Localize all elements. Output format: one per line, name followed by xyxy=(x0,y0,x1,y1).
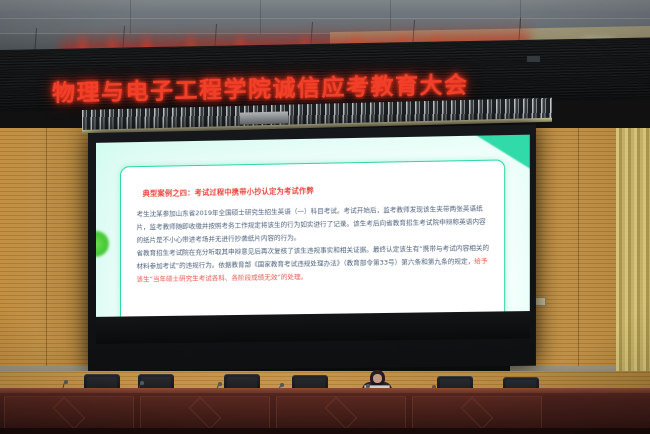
window-curtain xyxy=(616,128,650,386)
podium-panel-diamond xyxy=(189,397,222,430)
podium-panel xyxy=(4,396,134,430)
ceiling-panel-line xyxy=(130,0,131,34)
slide-title: 典型案例之四：考试过程中携带小抄认定为考试作弊 xyxy=(143,183,491,199)
podium-panel-diamond xyxy=(325,397,358,430)
conference-hall-photo: 物理与电子工程学院诚信应考教育大会 典型案例之四：考试过程中携带小抄认定为考试作… xyxy=(0,0,650,434)
projection-screen-bezel: 典型案例之四：考试过程中携带小抄认定为考试作弊 考生沈某参加山东省2019年全国… xyxy=(88,124,536,371)
ceiling-seam xyxy=(0,18,650,19)
slide-green-dot-accent xyxy=(96,231,109,257)
podium-panel xyxy=(276,396,406,430)
microphone-head xyxy=(280,383,284,387)
slide-paragraph-2-text: 省教育招生考试院在充分听取其申辩意见后再次复核了该生违规事实和相关证据。最终认定… xyxy=(137,244,490,271)
podium-panel-diamond xyxy=(461,397,494,430)
microphone-head xyxy=(140,381,144,385)
wall-left-wood-panel xyxy=(0,128,92,388)
slide-paragraph-1: 考生沈某参加山东省2019年全国硕士研究生招生英语（一）科目考试。考试开始后，监… xyxy=(137,202,491,247)
podium-panel xyxy=(412,396,542,430)
wall-seam xyxy=(578,128,579,388)
grille-access-plate xyxy=(240,111,288,124)
podium-desktop-surface xyxy=(0,388,650,393)
wall-seam xyxy=(46,128,47,388)
podium-panel xyxy=(140,396,270,430)
slide-content-frame: 典型案例之四：考试过程中携带小抄认定为考试作弊 考生沈某参加山东省2019年全国… xyxy=(120,160,506,328)
projection-screen-surface[interactable]: 典型案例之四：考试过程中携带小抄认定为考试作弊 考生沈某参加山东省2019年全国… xyxy=(96,135,530,344)
microphone-head xyxy=(366,384,370,388)
speaker-head xyxy=(370,370,385,386)
slide-body: 考生沈某参加山东省2019年全国硕士研究生招生英语（一）科目考试。考试开始后，监… xyxy=(137,202,491,286)
microphone-head xyxy=(218,382,222,386)
microphone-head xyxy=(64,380,68,384)
podium-base-skirt xyxy=(0,428,650,434)
screen-lower-bezel xyxy=(96,311,530,344)
podium-panel-diamond xyxy=(53,397,86,430)
speaker-face xyxy=(373,374,382,383)
led-panel-marker xyxy=(527,56,540,62)
podium-desk xyxy=(0,388,650,434)
slide-paragraph-2: 省教育招生考试院在充分听取其申辩意见后再次复核了该生违规事实和相关证据。最终认定… xyxy=(137,242,491,287)
